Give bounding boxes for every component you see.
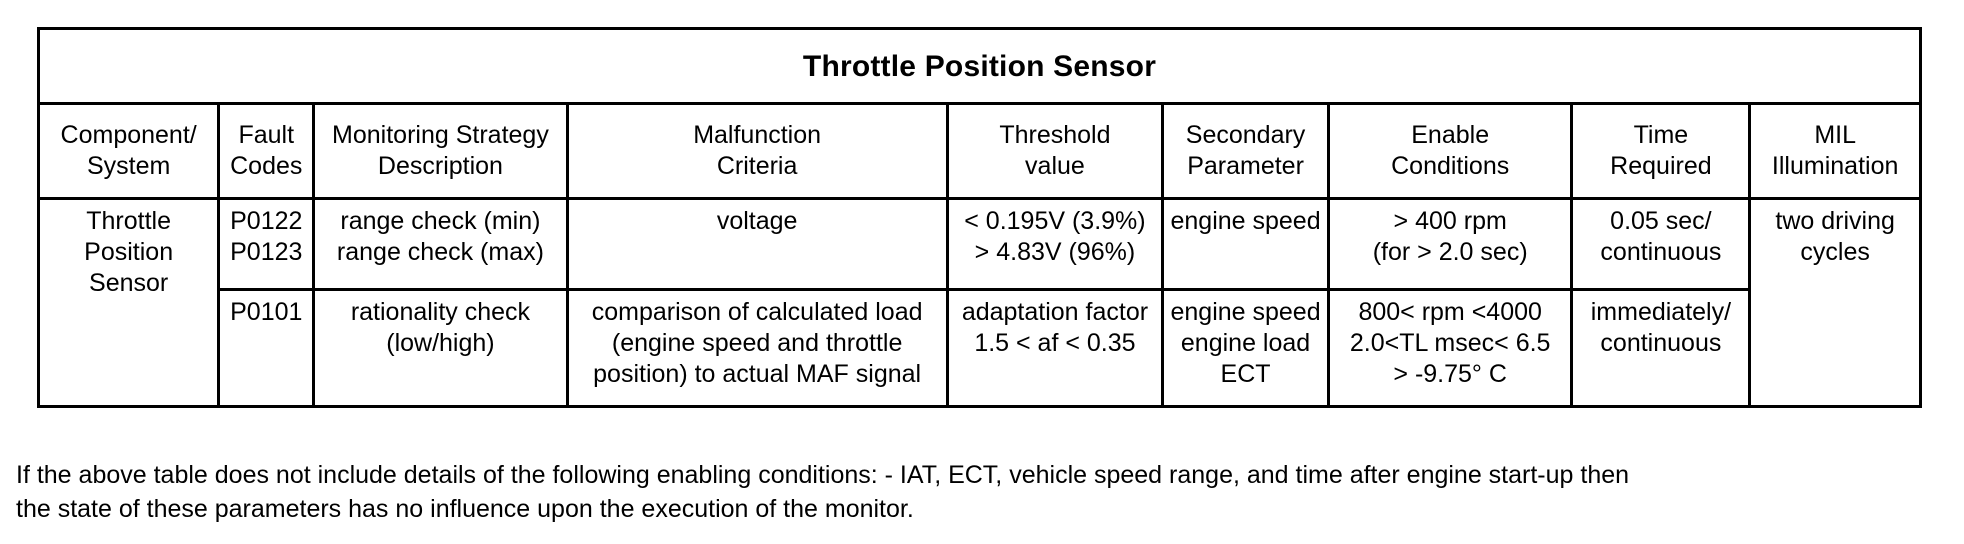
cell-threshold-value: < 0.195V (3.9%) > 4.83V (96%) <box>947 199 1163 290</box>
header-line: Codes <box>224 151 308 182</box>
header-line: value <box>953 151 1158 182</box>
header-line: Enable <box>1334 120 1567 151</box>
table-row: P0101 rationality check (low/high) compa… <box>39 290 1921 407</box>
cell-secondary-parameter: engine speed <box>1163 199 1329 290</box>
header-line: System <box>44 151 213 182</box>
value-line: > 400 rpm <box>1334 206 1567 237</box>
header-line: Threshold <box>953 120 1158 151</box>
value-line: ECT <box>1168 359 1323 390</box>
header-line: Parameter <box>1168 151 1323 182</box>
value-line: (engine speed and throttle <box>573 328 942 359</box>
footer-note: If the above table does not include deta… <box>16 458 1946 526</box>
value-line: position) to actual MAF signal <box>573 359 942 390</box>
value-line: engine speed <box>1168 297 1323 328</box>
value-line: < 0.195V (3.9%) <box>953 206 1158 237</box>
value-line: immediately/ <box>1577 297 1744 328</box>
column-header-fault-codes: Fault Codes <box>219 104 314 199</box>
footer-line: If the above table does not include deta… <box>16 458 1946 492</box>
cell-enable-conditions: > 400 rpm (for > 2.0 sec) <box>1328 199 1572 290</box>
column-header-malfunction-criteria: Malfunction Criteria <box>567 104 947 199</box>
column-header-component-system: Component/ System <box>39 104 219 199</box>
cell-secondary-parameter: engine speed engine load ECT <box>1163 290 1329 407</box>
column-header-time-required: Time Required <box>1572 104 1750 199</box>
cell-fault-codes: P0122 P0123 <box>219 199 314 290</box>
header-line: Criteria <box>573 151 942 182</box>
column-header-threshold-value: Threshold value <box>947 104 1163 199</box>
value-line: cycles <box>1755 237 1915 268</box>
header-line: Required <box>1577 151 1744 182</box>
column-header-secondary-parameter: Secondary Parameter <box>1163 104 1329 199</box>
value-line: P0123 <box>224 237 308 268</box>
value-line: > -9.75° C <box>1334 359 1567 390</box>
value-line: 2.0<TL msec< 6.5 <box>1334 328 1567 359</box>
cell-malfunction-criteria: voltage <box>567 199 947 290</box>
footer-line: the state of these parameters has no inf… <box>16 492 1946 526</box>
value-line: 1.5 < af < 0.35 <box>953 328 1158 359</box>
value-line: continuous <box>1577 237 1744 268</box>
value-line: 800< rpm <4000 <box>1334 297 1567 328</box>
value-line: range check (max) <box>319 237 561 268</box>
header-line: Monitoring Strategy <box>319 120 561 151</box>
value-line: comparison of calculated load <box>573 297 942 328</box>
dtc-table-container: Throttle Position Sensor Component/ Syst… <box>37 27 1922 408</box>
value-line: adaptation factor <box>953 297 1158 328</box>
throttle-position-sensor-table: Throttle Position Sensor Component/ Syst… <box>37 27 1922 408</box>
page-title: Throttle Position Sensor <box>39 29 1921 104</box>
value-line: engine speed <box>1168 206 1323 237</box>
component-line: Position <box>44 237 213 268</box>
cell-threshold-value: adaptation factor 1.5 < af < 0.35 <box>947 290 1163 407</box>
cell-monitoring-strategy: rationality check (low/high) <box>314 290 567 407</box>
header-line: Secondary <box>1168 120 1323 151</box>
cell-time-required: immediately/ continuous <box>1572 290 1750 407</box>
header-line: Illumination <box>1755 151 1915 182</box>
header-line: Conditions <box>1334 151 1567 182</box>
column-header-mil-illumination: MIL Illumination <box>1750 104 1921 199</box>
cell-mil-illumination: two driving cycles <box>1750 199 1921 407</box>
header-line: Time <box>1577 120 1744 151</box>
value-line: continuous <box>1577 328 1744 359</box>
table-header-row: Component/ System Fault Codes Monitoring… <box>39 104 1921 199</box>
document-page: Throttle Position Sensor Component/ Syst… <box>0 0 1964 544</box>
table-row: Throttle Position Sensor P0122 P0123 ran… <box>39 199 1921 290</box>
cell-fault-codes: P0101 <box>219 290 314 407</box>
component-line: Throttle <box>44 206 213 237</box>
value-line: > 4.83V (96%) <box>953 237 1158 268</box>
component-line: Sensor <box>44 268 213 299</box>
cell-enable-conditions: 800< rpm <4000 2.0<TL msec< 6.5 > -9.75°… <box>1328 290 1572 407</box>
header-line: Malfunction <box>573 120 942 151</box>
value-line: two driving <box>1755 206 1915 237</box>
header-line: Fault <box>224 120 308 151</box>
value-line: 0.05 sec/ <box>1577 206 1744 237</box>
value-line: voltage <box>573 206 942 237</box>
column-header-enable-conditions: Enable Conditions <box>1328 104 1572 199</box>
header-line: Description <box>319 151 561 182</box>
table-title-row: Throttle Position Sensor <box>39 29 1921 104</box>
value-line: P0122 <box>224 206 308 237</box>
value-line: P0101 <box>224 297 308 328</box>
cell-time-required: 0.05 sec/ continuous <box>1572 199 1750 290</box>
value-line: engine load <box>1168 328 1323 359</box>
header-line: Component/ <box>44 120 213 151</box>
cell-malfunction-criteria: comparison of calculated load (engine sp… <box>567 290 947 407</box>
value-line: range check (min) <box>319 206 561 237</box>
column-header-monitoring-strategy-description: Monitoring Strategy Description <box>314 104 567 199</box>
value-line: rationality check <box>319 297 561 328</box>
value-line: (for > 2.0 sec) <box>1334 237 1567 268</box>
cell-monitoring-strategy: range check (min) range check (max) <box>314 199 567 290</box>
header-line: MIL <box>1755 120 1915 151</box>
value-line: (low/high) <box>319 328 561 359</box>
cell-component-system: Throttle Position Sensor <box>39 199 219 407</box>
